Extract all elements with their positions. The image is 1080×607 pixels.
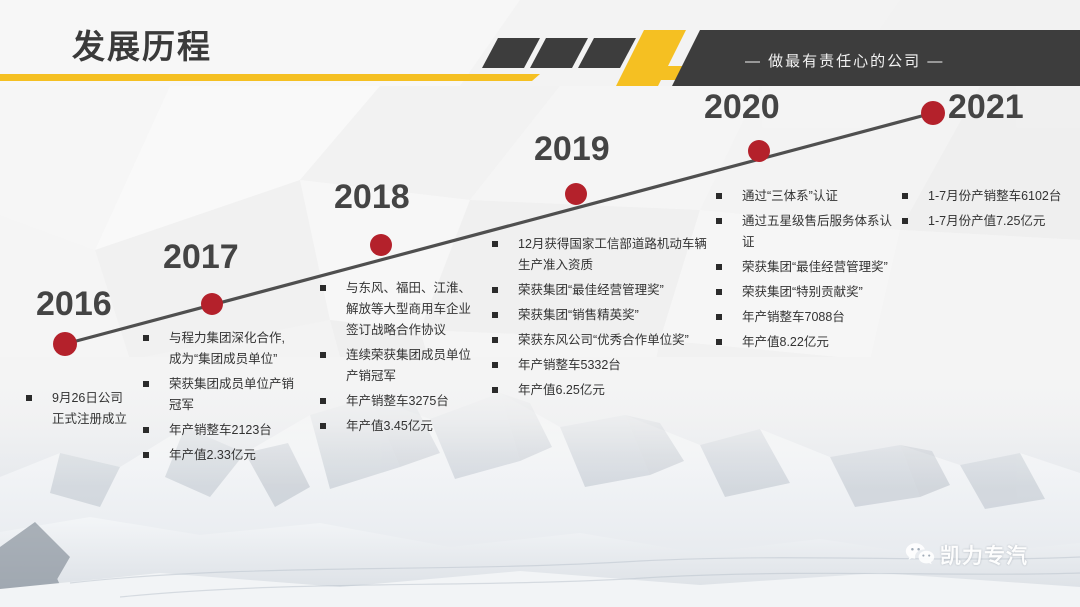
timeline-dot-2018 xyxy=(370,234,392,256)
year-label-2017: 2017 xyxy=(163,238,239,276)
watermark: 凯力专汽 xyxy=(905,540,1028,570)
page-title: 发展历程 xyxy=(72,27,212,67)
year-label-2019: 2019 xyxy=(534,130,610,168)
milestone-column-2019: 12月获得国家工信部道路机动车辆 生产准入资质 荣获集团“最佳经营管理奖” 荣获… xyxy=(492,234,714,405)
list-item: 1-7月份产销整车6102台 xyxy=(902,186,1080,207)
list-item: 年产值6.25亿元 xyxy=(492,380,714,401)
milestone-column-2017: 与程力集团深化合作, 成为“集团成员单位” 荣获集团成员单位产销 冠军 年产销整… xyxy=(143,328,311,470)
year-label-2016: 2016 xyxy=(36,285,112,323)
milestone-column-2020: 通过“三体系”认证 通过五星级售后服务体系认 证 荣获集团“最佳经营管理奖” 荣… xyxy=(716,186,906,357)
list-item: 荣获集团“销售精英奖” xyxy=(492,305,714,326)
slide-canvas: 发展历程 — 做最有责任心的公司 — 2016 2017 2018 2019 2… xyxy=(0,0,1080,607)
year-label-2020: 2020 xyxy=(704,88,780,126)
list-item: 与程力集团深化合作, 成为“集团成员单位” xyxy=(143,328,311,370)
list-item: 年产销整车2123台 xyxy=(143,420,311,441)
timeline-dot-2017 xyxy=(201,293,223,315)
timeline-dot-2020 xyxy=(748,140,770,162)
year-label-2018: 2018 xyxy=(334,178,410,216)
timeline-dot-2016 xyxy=(53,332,77,356)
timeline-dot-2019 xyxy=(565,183,587,205)
wechat-icon xyxy=(905,542,935,568)
milestone-column-2021: 1-7月份产销整车6102台 1-7月份产值7.25亿元 xyxy=(902,186,1080,236)
list-item: 与东风、福田、江淮、 解放等大型商用车企业 签订战略合作协议 xyxy=(320,278,495,341)
milestone-column-2016: 9月26日公司 正式注册成立 xyxy=(26,388,146,434)
list-item: 1-7月份产值7.25亿元 xyxy=(902,211,1080,232)
list-item: 连续荣获集团成员单位 产销冠军 xyxy=(320,345,495,387)
list-item: 年产销整车7088台 xyxy=(716,307,906,328)
list-item: 荣获东风公司“优秀合作单位奖” xyxy=(492,330,714,351)
list-item: 12月获得国家工信部道路机动车辆 生产准入资质 xyxy=(492,234,714,276)
watermark-label: 凯力专汽 xyxy=(940,540,1028,570)
header-tagline: — 做最有责任心的公司 — xyxy=(745,50,944,71)
list-item: 通过“三体系”认证 xyxy=(716,186,906,207)
list-item: 荣获集团成员单位产销 冠军 xyxy=(143,374,311,416)
year-label-2021: 2021 xyxy=(948,88,1024,126)
list-item: 荣获集团“最佳经营管理奖” xyxy=(492,280,714,301)
list-item: 荣获集团“最佳经营管理奖” xyxy=(716,257,906,278)
list-item: 年产值8.22亿元 xyxy=(716,332,906,353)
timeline-dot-2021 xyxy=(921,101,945,125)
list-item: 通过五星级售后服务体系认 证 xyxy=(716,211,906,253)
header-band: 发展历程 — 做最有责任心的公司 — xyxy=(0,0,1080,86)
list-item: 9月26日公司 正式注册成立 xyxy=(26,388,146,430)
list-item: 年产值2.33亿元 xyxy=(143,445,311,466)
list-item: 荣获集团“特别贡献奖” xyxy=(716,282,906,303)
list-item: 年产销整车3275台 xyxy=(320,391,495,412)
list-item: 年产销整车5332台 xyxy=(492,355,714,376)
milestone-column-2018: 与东风、福田、江淮、 解放等大型商用车企业 签订战略合作协议 连续荣获集团成员单… xyxy=(320,278,495,441)
list-item: 年产值3.45亿元 xyxy=(320,416,495,437)
